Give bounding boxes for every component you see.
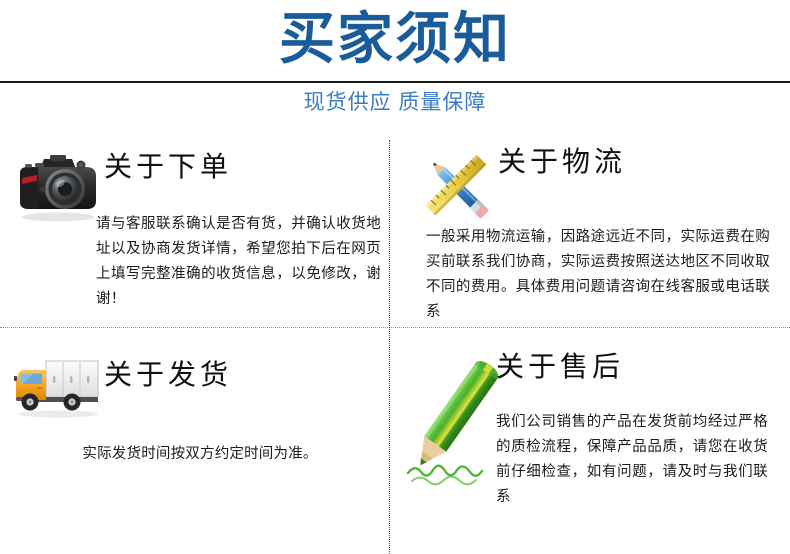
section-shipping-heading: 关于发货 <box>104 358 232 392</box>
page-header: 买家须知 现货供应 质量保障 <box>0 0 790 128</box>
page-title: 买家须知 <box>0 6 790 72</box>
section-order-heading: 关于下单 <box>104 150 232 184</box>
section-shipping: 关于发货 实际发货时间按双方约定时间为准。 <box>0 330 389 554</box>
section-shipping-body: 实际发货时间按双方约定时间为准。 <box>20 442 380 467</box>
section-logistics-heading: 关于物流 <box>498 145 626 179</box>
section-after-sales-body: 我们公司销售的产品在发货前均经过严格的质检流程，保障产品品质，请您在收货前仔细检… <box>496 410 768 510</box>
section-logistics-body: 一般采用物流运输，因路途远近不同，实际运费在购买前联系我们协商，实际运费按照送达… <box>426 225 770 325</box>
section-after-sales: 关于售后 我们公司销售的产品在发货前均经过严格的质检流程，保障产品品质，请您在收… <box>390 330 779 554</box>
section-order-body: 请与客服联系确认是否有货，并确认收货地址以及协商发货详情，希望您拍下后在网页上填… <box>96 212 381 312</box>
section-order: 关于下单 请与客服联系确认是否有货，并确认收货地址以及协商发货详情，希望您拍下后… <box>0 130 389 327</box>
page-subtitle: 现货供应 质量保障 <box>0 88 790 118</box>
buyer-notice-page: 买家须知 现货供应 质量保障 <box>0 0 790 554</box>
section-after-sales-heading: 关于售后 <box>496 350 624 384</box>
header-divider <box>0 81 790 83</box>
grid-horizontal-divider <box>0 327 790 328</box>
section-logistics: 关于物流 一般采用物流运输，因路途远近不同，实际运费在购买前联系我们协商，实际运… <box>390 130 779 327</box>
